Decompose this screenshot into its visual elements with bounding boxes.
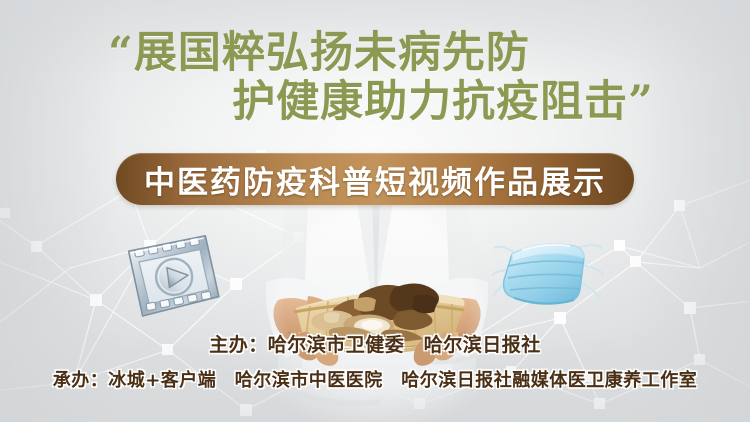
film-strip-play-icon: [121, 231, 224, 322]
page-title: “展国粹弘扬未病先防 护健康助力抗疫阻击”: [0, 32, 750, 124]
subtitle-banner: 中医药防疫科普短视频作品展示: [116, 153, 634, 205]
face-mask-icon: [492, 236, 604, 314]
headline-line-1: “展国粹弘扬未病先防: [0, 32, 750, 75]
poster-root: “展国粹弘扬未病先防 护健康助力抗疫阻击” 中医药防疫科普短视频作品展示 主办：…: [0, 0, 750, 422]
organizer-credit: 承办：冰城+客户端 哈尔滨市中医医院 哈尔滨日报社融媒体医卫康养工作室: [0, 366, 750, 392]
organizer-credit-label: 承办：冰城+客户端 哈尔滨市中医医院 哈尔滨日报社融媒体医卫康养工作室: [53, 370, 698, 391]
host-credit: 主办：哈尔滨市卫健委 哈尔滨日报社: [0, 330, 750, 357]
host-credit-label: 主办：哈尔滨市卫健委 哈尔滨日报社: [209, 334, 541, 356]
headline-line-2: 护健康助力抗疫阻击”: [0, 81, 750, 124]
subtitle-banner-label: 中医药防疫科普短视频作品展示: [144, 157, 606, 202]
